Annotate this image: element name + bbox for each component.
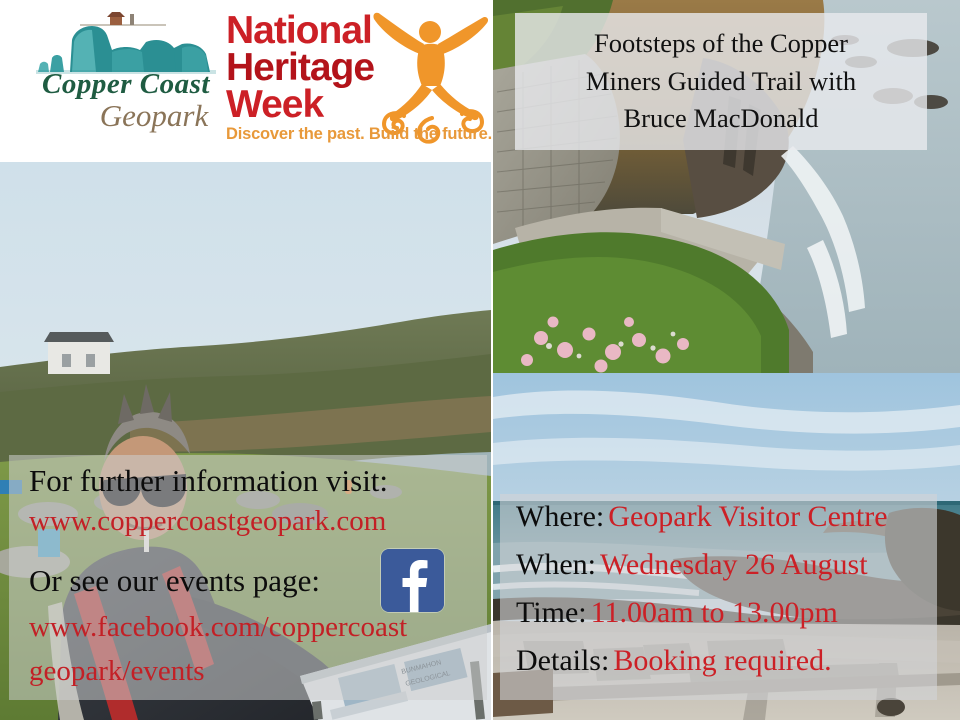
- event-title-line-1: Footsteps of the Copper: [594, 25, 848, 63]
- detail-row-time: Time: 11.00am to 13.00pm: [516, 596, 838, 630]
- heritage-week-line-2: Heritage: [226, 49, 374, 86]
- facebook-link-line-2[interactable]: geopark/events: [29, 655, 205, 688]
- events-page-heading: Or see our events page:: [29, 563, 320, 599]
- heritage-week-line-1: National: [226, 12, 374, 49]
- event-title-line-2: Miners Guided Trail with: [586, 63, 856, 101]
- heritage-week-tagline: Discover the past. Build the future.: [226, 125, 492, 144]
- poster: BUNMAHON GEOLOGICAL: [0, 0, 960, 720]
- detail-label-details: Details:: [516, 644, 609, 677]
- detail-label-time: Time:: [516, 596, 587, 629]
- national-heritage-week-logo: National Heritage Week: [224, 8, 486, 156]
- event-details-panel: Where: Geopark Visitor Centre When: Wedn…: [500, 494, 937, 700]
- detail-row-when: When: Wednesday 26 August: [516, 548, 868, 582]
- facebook-icon[interactable]: [381, 549, 444, 612]
- detail-value-details: Booking required.: [613, 644, 831, 677]
- copper-coast-geopark-logo: Copper Coast Geopark: [18, 6, 228, 156]
- heritage-week-wordmark: National Heritage Week: [226, 12, 374, 123]
- event-title-line-3: Bruce MacDonald: [624, 100, 819, 138]
- copper-coast-logo-sub: Geopark: [64, 100, 244, 131]
- detail-row-details: Details: Booking required.: [516, 644, 832, 678]
- copper-coast-logo-name: Copper Coast: [26, 70, 226, 99]
- heritage-week-line-3: Week: [226, 86, 374, 123]
- detail-label-where: Where:: [516, 500, 604, 533]
- detail-label-when: When:: [516, 548, 596, 581]
- detail-value-when: Wednesday 26 August: [600, 548, 868, 581]
- facebook-link-line-1[interactable]: www.facebook.com/coppercoast: [29, 611, 407, 644]
- website-link[interactable]: www.coppercoastgeopark.com: [29, 505, 386, 538]
- cliff-icon: [36, 12, 216, 74]
- detail-value-where: Geopark Visitor Centre: [608, 500, 887, 533]
- further-info-heading: For further information visit:: [29, 463, 388, 499]
- detail-value-time: 11.00am to 13.00pm: [591, 596, 838, 629]
- detail-row-where: Where: Geopark Visitor Centre: [516, 500, 888, 534]
- event-title-panel: Footsteps of the Copper Miners Guided Tr…: [515, 13, 927, 150]
- logo-band: Copper Coast Geopark National Heritage W…: [0, 0, 491, 162]
